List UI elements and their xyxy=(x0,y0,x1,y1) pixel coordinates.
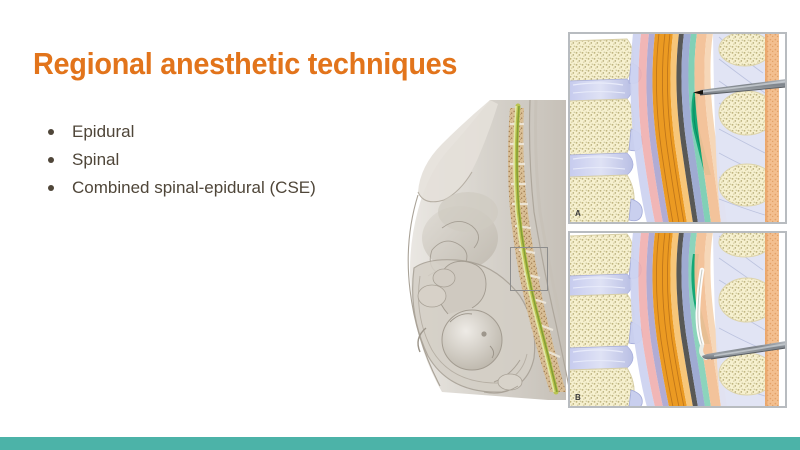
list-item: Spinal xyxy=(44,146,316,174)
list-item: Combined spinal-epidural (CSE) xyxy=(44,174,316,202)
lumbar-region-highlight-box xyxy=(510,247,548,291)
list-item-label: Spinal xyxy=(72,150,119,169)
bottom-accent-bar xyxy=(0,437,800,450)
panel-letter-b: B xyxy=(575,393,581,402)
bullet-dot-icon xyxy=(48,129,54,135)
list-item-label: Epidural xyxy=(72,122,134,141)
bullet-dot-icon xyxy=(48,185,54,191)
epidural-catheter-panel: B xyxy=(568,231,787,408)
page-title: Regional anesthetic techniques xyxy=(33,45,457,83)
list-item: Epidural xyxy=(44,118,316,146)
epidural-needle-panel: A xyxy=(568,32,787,224)
list-item-label: Combined spinal-epidural (CSE) xyxy=(72,178,316,197)
panel-letter-a: A xyxy=(575,209,581,218)
bullet-list: Epidural Spinal Combined spinal-epidural… xyxy=(44,118,316,202)
slide-canvas: Regional anesthetic techniques Epidural … xyxy=(0,0,800,450)
bullet-dot-icon xyxy=(48,157,54,163)
